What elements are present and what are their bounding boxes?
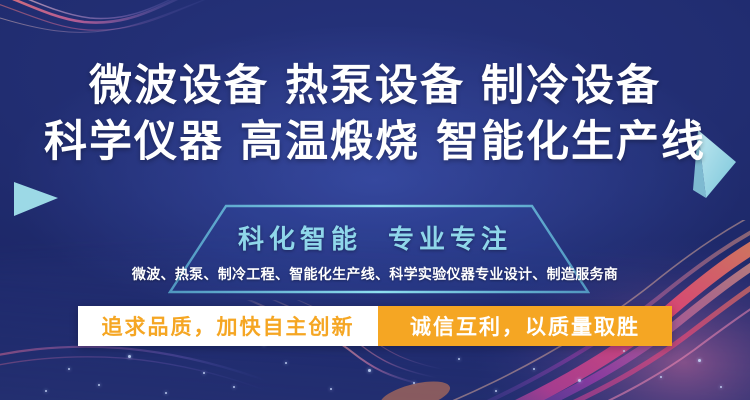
promo-banner: 微波设备热泵设备制冷设备 科学仪器高温煅烧智能化生产线 科化智能专业专注 微波、… xyxy=(0,0,750,400)
subtitle: 微波、热泵、制冷工程、智能化生产线、科学实验仪器专业设计、制造服务商 xyxy=(0,264,750,284)
headline-line1-part-2: 热泵设备 xyxy=(285,62,465,110)
headline-line2-part-2: 高温煅烧 xyxy=(240,118,420,166)
headline-line1-part-3: 制冷设备 xyxy=(481,62,661,110)
slogan-ribbon: 追求品质，加快自主创新 诚信互利，以质量取胜 xyxy=(78,306,672,346)
slogan-left: 科化智能 xyxy=(238,224,362,254)
slogan-right: 专业专注 xyxy=(388,224,512,254)
slogan: 科化智能专业专注 xyxy=(0,219,750,256)
triangle-right-icon xyxy=(14,182,58,216)
ribbon-left-cell: 追求品质，加快自主创新 xyxy=(78,306,378,346)
headline-line-2: 科学仪器高温煅烧智能化生产线 xyxy=(0,118,750,167)
ribbon-right-cell: 诚信互利，以质量取胜 xyxy=(378,306,672,346)
page-title: 微波设备热泵设备制冷设备 科学仪器高温煅烧智能化生产线 xyxy=(0,62,750,167)
headline-line-1: 微波设备热泵设备制冷设备 xyxy=(0,62,750,111)
headline-line1-part-1: 微波设备 xyxy=(89,62,269,110)
headline-line2-part-3: 智能化生产线 xyxy=(436,118,706,166)
headline-line2-part-1: 科学仪器 xyxy=(44,118,224,166)
